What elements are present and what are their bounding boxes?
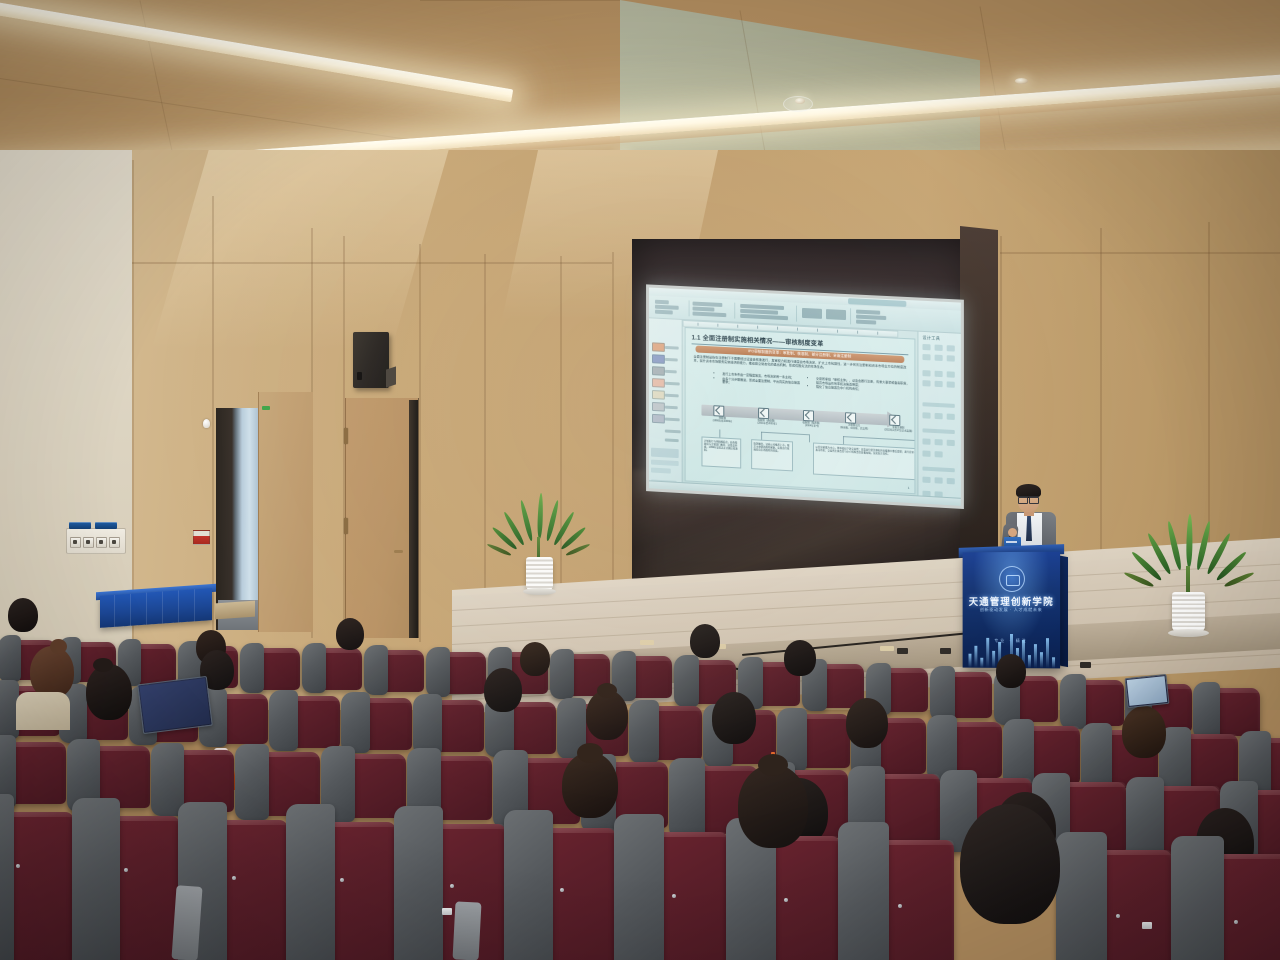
podium: 天通管理创新学院 创新驱动发展 · 人才成就未来 专业 · 精进 <box>963 552 1060 669</box>
speaker-bracket <box>386 366 396 387</box>
audience-head <box>586 690 628 740</box>
timeline-note-box: 计划发行与审批相结合，由各级政府与主管部门推荐、证监会审批，1999年证券法正式… <box>701 436 741 468</box>
timeline-caption: 注册制试点(科创板、创业板、北交所) <box>832 422 876 430</box>
timeline-caption: 核准制（保荐制）(2004年至今) <box>790 420 834 428</box>
ceiling-vent <box>783 96 813 112</box>
timeline-node-icon <box>845 412 856 424</box>
info-plate <box>69 522 91 529</box>
seat[interactable] <box>428 652 486 694</box>
pane-block[interactable] <box>651 468 671 474</box>
ribbon-group-styles[interactable] <box>800 306 851 325</box>
style-swatch[interactable] <box>652 342 665 352</box>
timeline-connector <box>761 432 809 435</box>
timeline-node-icon <box>803 409 814 421</box>
cardboard-box <box>215 601 255 620</box>
ceiling-seam <box>420 0 620 1</box>
info-plate <box>95 522 117 529</box>
cable-tape <box>880 646 894 651</box>
audience-head <box>86 664 132 720</box>
auditorium-scene: 设计工具 <box>0 0 1280 960</box>
seat[interactable] <box>304 648 362 690</box>
wall-seam <box>612 252 614 622</box>
door-handle[interactable] <box>394 550 403 553</box>
seat[interactable] <box>76 816 180 960</box>
audience-head <box>562 752 618 818</box>
seat[interactable] <box>1060 850 1172 960</box>
slide-canvas[interactable]: 1.1 全面注册制实施相关情况——审核制度变革 IPO审核制度的变革：审批制、核… <box>685 327 916 494</box>
door-hinge <box>344 428 348 444</box>
backdrop-right-edge <box>960 226 998 570</box>
pane-block[interactable] <box>651 448 679 458</box>
smoke-detector-icon <box>203 419 210 428</box>
power-socket[interactable] <box>109 537 120 548</box>
wall-speaker-icon <box>353 332 389 388</box>
seat[interactable] <box>398 824 506 960</box>
downlight <box>1015 78 1028 84</box>
audience-head <box>8 598 38 632</box>
ceiling-light-strip <box>0 0 513 102</box>
timeline-connector <box>843 436 915 441</box>
plant-saucer <box>1168 629 1209 637</box>
laptop[interactable] <box>137 676 213 734</box>
hair-bun <box>577 743 603 763</box>
audience-head <box>520 642 550 676</box>
podium-organization-name: 天通管理创新学院 <box>963 594 1060 608</box>
open-doorway[interactable] <box>216 408 258 630</box>
style-swatch[interactable] <box>652 402 665 412</box>
projection-screen-frame: 设计工具 <box>646 284 964 509</box>
pane-block[interactable] <box>651 460 679 467</box>
power-socket[interactable] <box>83 537 94 548</box>
hair-bun <box>93 658 113 672</box>
cable-connector <box>897 648 908 654</box>
style-swatch[interactable] <box>652 414 665 424</box>
speaker-hand <box>1008 528 1017 537</box>
hair-bun <box>597 683 617 698</box>
plant-right <box>1148 518 1232 648</box>
seat[interactable] <box>344 698 412 750</box>
seat[interactable] <box>272 696 340 748</box>
slide-timeline: 审批制(1990年至2000年) 核准制（通道制）(2001年至2003年) 核… <box>701 403 900 429</box>
speaker-driver-icon <box>357 372 362 380</box>
seat-number-plate <box>1142 922 1152 929</box>
timeline-connector <box>719 429 720 437</box>
plant-left <box>505 495 575 605</box>
seat[interactable] <box>842 840 954 960</box>
academy-logo-icon <box>999 566 1025 592</box>
wall-seam <box>1000 252 1280 254</box>
audience-head <box>690 624 720 658</box>
seat[interactable] <box>324 754 406 818</box>
hair-bun <box>758 754 788 776</box>
ribbon-group-paragraph[interactable] <box>738 303 797 322</box>
door-closed[interactable] <box>345 398 419 638</box>
timeline-node-icon <box>758 407 769 419</box>
seat[interactable] <box>0 812 74 960</box>
audience-head <box>846 698 888 748</box>
timeline-connector <box>761 432 762 440</box>
seat[interactable] <box>416 700 484 752</box>
slide-bullets-right: 交易所承担「审核主体」，证监会履行注册，有重大事项或备案职责，提高市场运作效率和… <box>811 377 909 395</box>
wall-seam <box>132 160 134 660</box>
audience-head <box>712 692 756 744</box>
cable-connector <box>1080 662 1091 668</box>
cable-connector <box>940 648 951 654</box>
audience-head <box>336 618 364 650</box>
plant-pot <box>1172 592 1205 632</box>
timeline-node-icon <box>713 405 724 417</box>
plant-pot <box>526 557 553 591</box>
audience-head <box>960 804 1060 924</box>
hair-bun <box>50 639 67 654</box>
laptop[interactable] <box>1125 674 1170 708</box>
exit-sign-icon <box>262 406 270 410</box>
style-swatch[interactable] <box>652 390 665 400</box>
seat[interactable] <box>730 836 840 960</box>
projection-screen: 设计工具 <box>649 287 961 505</box>
app-right-pane[interactable]: 设计工具 <box>917 332 960 499</box>
right-pane-title: 设计工具 <box>922 335 940 342</box>
ribbon-group-clipboard[interactable] <box>653 299 690 317</box>
door-gap <box>409 400 418 638</box>
style-swatch[interactable] <box>652 378 665 388</box>
timeline-caption: 审批制(1990年至2000年) <box>700 415 744 423</box>
wall-seam <box>419 244 421 642</box>
style-swatch[interactable] <box>652 354 665 364</box>
audience-head <box>484 668 522 712</box>
plant-saucer <box>523 588 556 595</box>
power-socket[interactable] <box>70 537 81 548</box>
audience-head <box>784 640 816 676</box>
seat[interactable] <box>632 706 702 760</box>
seat-armrest <box>453 901 482 960</box>
seat[interactable] <box>1176 854 1280 960</box>
audience-head <box>996 654 1026 688</box>
timeline-connector <box>809 434 810 442</box>
style-swatch[interactable] <box>652 366 665 376</box>
seat[interactable] <box>618 832 728 960</box>
wall-outlet-panel[interactable] <box>66 528 126 554</box>
timeline-caption: 核准制（通道制）(2001年至2003年) <box>745 418 789 426</box>
timeline-note-box: 取消额度，证券公司推荐上市，限定主承销商推荐家数，实现由行政推荐向市场推荐的转变… <box>751 439 793 471</box>
seat[interactable] <box>508 828 616 960</box>
seat[interactable] <box>932 672 992 718</box>
timeline-caption: 全面注册制(2023年2月17日正式实施) <box>876 425 915 433</box>
seat[interactable] <box>242 648 300 690</box>
seat-number-plate <box>442 908 452 915</box>
wall-light-pool <box>151 150 448 350</box>
power-socket[interactable] <box>96 537 107 548</box>
ribbon-group-editing[interactable] <box>854 308 900 326</box>
podium-tagline: 创新驱动发展 · 人才成就未来 <box>963 607 1060 613</box>
seat[interactable] <box>1196 688 1260 736</box>
audience-body <box>16 692 70 730</box>
seat-armrest <box>171 885 202 960</box>
seat[interactable] <box>366 650 424 692</box>
wall-seam <box>132 262 612 264</box>
glasses-icon <box>1018 496 1039 502</box>
seat[interactable] <box>290 822 396 960</box>
timeline-node-icon <box>889 414 900 426</box>
audience-head <box>1122 706 1166 758</box>
seat[interactable] <box>1062 680 1124 726</box>
seat[interactable] <box>780 714 850 768</box>
app-left-pane[interactable] <box>649 318 683 483</box>
door-hinge <box>344 518 348 534</box>
door-leaf-open[interactable] <box>258 392 313 632</box>
fire-alarm-pull-icon[interactable] <box>193 530 210 545</box>
audience-head <box>738 764 808 848</box>
audience-head <box>30 646 74 698</box>
timeline-note-box: 以信息披露为中心，将审核权下放交易所；证监会行使注册权并加强事中事后监管；发行定… <box>813 442 915 480</box>
timeline-connector <box>843 436 844 444</box>
slide-page-number: 1 <box>908 486 910 490</box>
cable-tape <box>640 640 654 645</box>
ribbon-group-font[interactable] <box>691 300 736 318</box>
slide-bullets-left: 发行上市条件由一定程度放宽，市场决定用一条主线； 由多个分步骤推进，形成全面注册… <box>717 373 801 390</box>
